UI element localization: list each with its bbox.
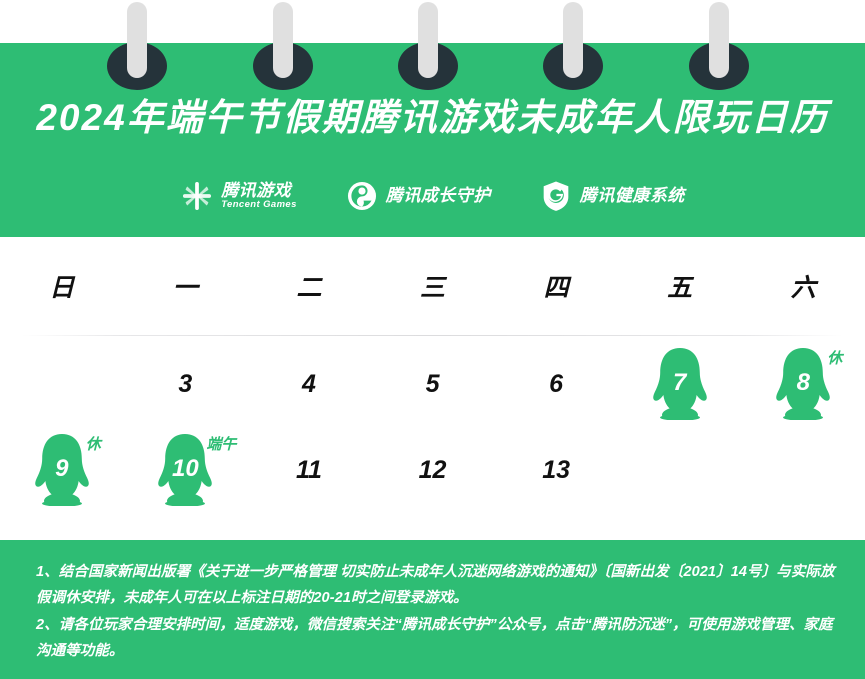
day-number: 7 — [653, 371, 707, 395]
logo-en-label: Tencent Games — [221, 200, 297, 210]
penguin-day-marker: 7 — [646, 348, 714, 420]
tencent-growth-guard-logo-icon — [345, 179, 379, 213]
header-panel: 2024年端午节假期腾讯游戏未成年人限玩日历 腾讯游戏 Tencent Game — [0, 43, 865, 237]
logo-health-system-text: 腾讯健康系统 — [580, 187, 685, 205]
calendar-body: 日 一 二 三 四 五 六 345678休 9休10端午111213 — [0, 237, 865, 540]
day-cell-restricted: 9休 — [0, 427, 124, 513]
day-number: 10 — [158, 457, 212, 481]
weekday-tue: 二 — [247, 237, 371, 335]
day-tag-label: 休 — [827, 351, 842, 366]
day-cell: 5 — [371, 341, 495, 427]
logo-row: 腾讯游戏 Tencent Games 腾讯成长守护 — [0, 179, 865, 213]
weekday-sat: 六 — [741, 237, 865, 335]
day-cell-restricted: 10端午 — [124, 427, 248, 513]
weekday-thu: 四 — [494, 237, 618, 335]
footer-note-1: 1、结合国家新闻出版署《关于进一步严格管理 切实防止未成年人沉迷网络游戏的通知》… — [36, 559, 835, 612]
weekday-sun: 日 — [0, 237, 124, 335]
week-row-1: 345678休 — [0, 341, 865, 427]
footer-notes: 1、结合国家新闻出版署《关于进一步严格管理 切实防止未成年人沉迷网络游戏的通知》… — [0, 540, 865, 665]
logo-cn-label: 腾讯成长守护 — [386, 187, 491, 205]
day-cell: 4 — [247, 341, 371, 427]
footer-panel: 1、结合国家新闻出版署《关于进一步严格管理 切实防止未成年人沉迷网络游戏的通知》… — [0, 540, 865, 679]
calendar-poster: 2024年端午节假期腾讯游戏未成年人限玩日历 腾讯游戏 Tencent Game — [0, 0, 865, 679]
logo-tencent-games: 腾讯游戏 Tencent Games — [180, 179, 297, 213]
logo-cn-label: 腾讯健康系统 — [580, 187, 685, 205]
day-cell: 13 — [494, 427, 618, 513]
footer-note-2: 2、请各位玩家合理安排时间，适度游戏，微信搜索关注“腾讯成长守护”公众号，点击“… — [36, 612, 835, 665]
day-number: 6 — [549, 372, 563, 397]
logo-tencent-games-text: 腾讯游戏 Tencent Games — [221, 182, 297, 211]
day-tag-label: 休 — [86, 437, 101, 452]
day-number: 5 — [426, 372, 440, 397]
logo-growth-guard: 腾讯成长守护 — [345, 179, 491, 213]
day-cell: 3 — [124, 341, 248, 427]
day-cell: 6 — [494, 341, 618, 427]
day-cell-restricted: 8休 — [741, 341, 865, 427]
tencent-games-logo-icon — [180, 179, 214, 213]
penguin-day-marker: 10端午 — [151, 434, 219, 506]
day-number: 3 — [178, 372, 192, 397]
logo-growth-guard-text: 腾讯成长守护 — [386, 187, 491, 205]
day-cell-restricted: 7 — [618, 341, 742, 427]
week-row-2: 9休10端午111213 — [0, 427, 865, 513]
logo-health-system: 腾讯健康系统 — [539, 179, 685, 213]
weekday-divider — [22, 335, 843, 336]
weekday-fri: 五 — [618, 237, 742, 335]
day-number: 9 — [35, 457, 89, 481]
penguin-day-marker: 9休 — [28, 434, 96, 506]
day-cell-empty — [618, 427, 742, 513]
day-number: 8 — [776, 371, 830, 395]
day-number: 4 — [302, 372, 316, 397]
day-cell: 11 — [247, 427, 371, 513]
day-number: 13 — [542, 458, 570, 483]
penguin-day-marker: 8休 — [769, 348, 837, 420]
page-title: 2024年端午节假期腾讯游戏未成年人限玩日历 — [0, 99, 865, 136]
day-cell: 12 — [371, 427, 495, 513]
day-tag-label: 端午 — [206, 437, 236, 452]
logo-cn-label: 腾讯游戏 — [221, 182, 297, 200]
weekday-mon: 一 — [124, 237, 248, 335]
day-number: 12 — [419, 458, 447, 483]
weekday-header-row: 日 一 二 三 四 五 六 — [0, 237, 865, 335]
weekday-wed: 三 — [371, 237, 495, 335]
tencent-health-system-logo-icon — [539, 179, 573, 213]
day-cell-empty — [0, 341, 124, 427]
day-cell-empty — [741, 427, 865, 513]
day-number: 11 — [296, 458, 322, 483]
